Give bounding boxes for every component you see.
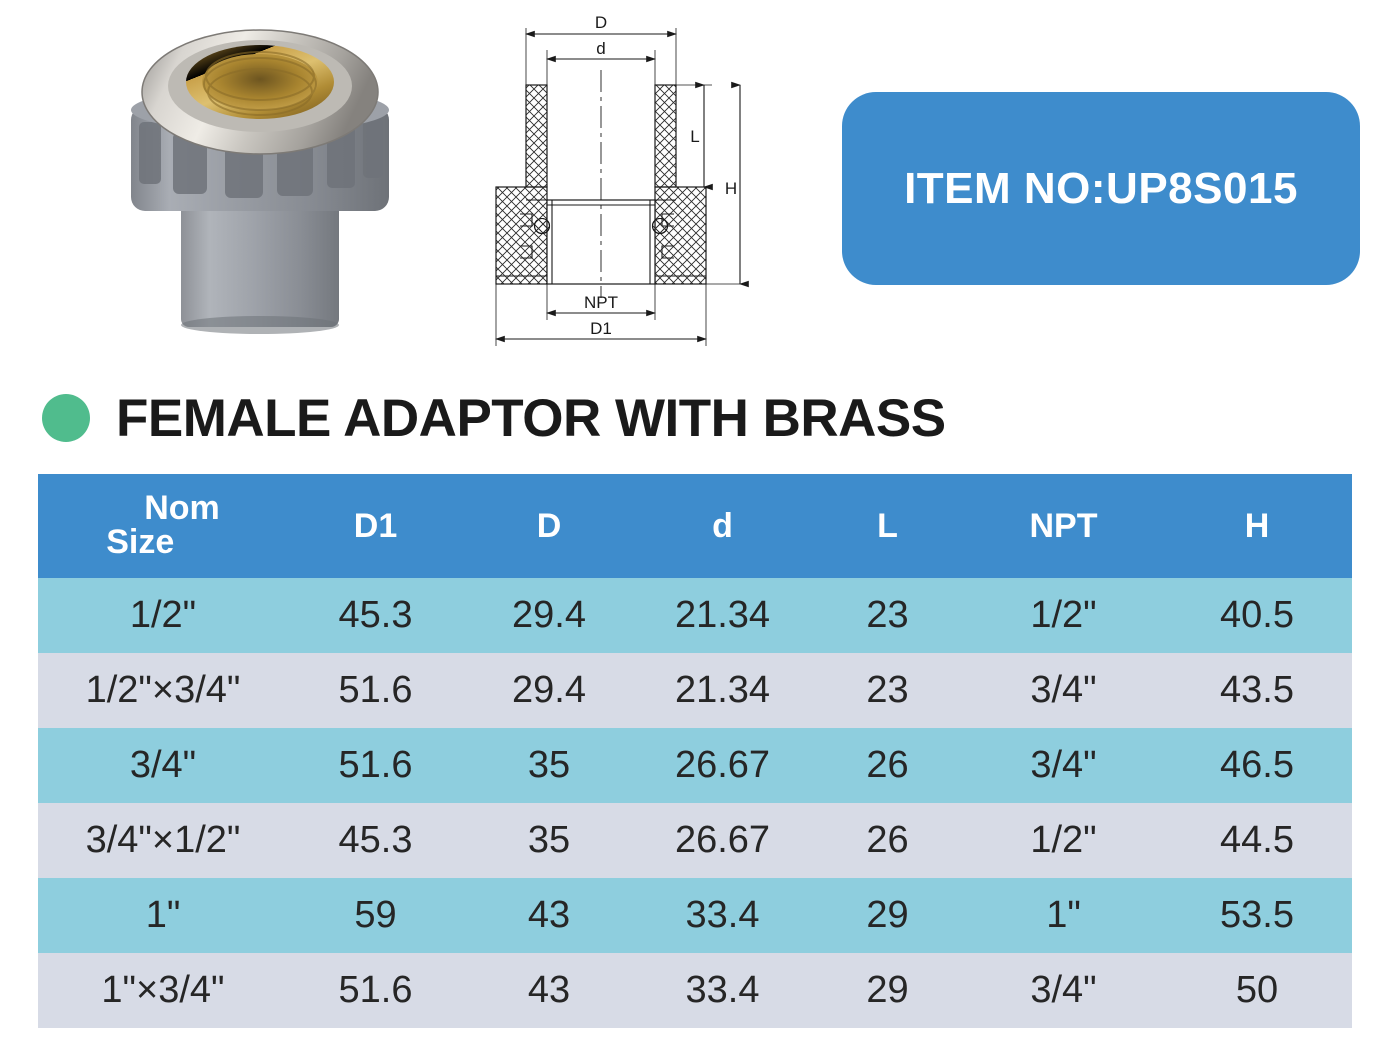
cell-d: 35: [463, 728, 635, 803]
cell-npt: 1": [965, 878, 1162, 953]
cell-h: 53.5: [1162, 878, 1352, 953]
column-header-nom-line1: Nom: [106, 491, 220, 525]
dim-label-L: L: [690, 127, 699, 146]
cell-d: 29.4: [463, 578, 635, 653]
column-header-h: H: [1162, 474, 1352, 578]
table-header: Nom Size D1 D d L NPT H: [38, 474, 1352, 578]
cell-npt: 1/2": [965, 803, 1162, 878]
cell-l: 23: [810, 653, 965, 728]
table-row: 1/2" 45.3 29.4 21.34 23 1/2" 40.5: [38, 578, 1352, 653]
cell-d: 43: [463, 953, 635, 1028]
cell-dd: 21.34: [635, 578, 810, 653]
table-body: 1/2" 45.3 29.4 21.34 23 1/2" 40.5 1/2"×3…: [38, 578, 1352, 1028]
cell-nom: 1/2"×3/4": [38, 653, 288, 728]
cell-d1: 59: [288, 878, 463, 953]
column-header-npt: NPT: [965, 474, 1162, 578]
product-photo: [95, 14, 425, 334]
dim-label-D1: D1: [590, 319, 612, 338]
table-header-row: Nom Size D1 D d L NPT H: [38, 474, 1352, 578]
cell-l: 23: [810, 578, 965, 653]
column-header-d1: D1: [288, 474, 463, 578]
column-header-l: L: [810, 474, 965, 578]
cell-l: 26: [810, 728, 965, 803]
cell-d1: 51.6: [288, 653, 463, 728]
cell-l: 26: [810, 803, 965, 878]
cell-dd: 33.4: [635, 878, 810, 953]
cell-nom: 1": [38, 878, 288, 953]
cell-d: 29.4: [463, 653, 635, 728]
dim-label-D: D: [595, 13, 607, 32]
cell-dd: 21.34: [635, 653, 810, 728]
cell-l: 29: [810, 953, 965, 1028]
cell-d1: 51.6: [288, 953, 463, 1028]
cell-nom: 3/4"×1/2": [38, 803, 288, 878]
column-header-d: D: [463, 474, 635, 578]
cell-h: 46.5: [1162, 728, 1352, 803]
technical-drawing-svg: D d L H NPT D1: [480, 8, 765, 353]
cell-d1: 45.3: [288, 803, 463, 878]
cell-nom: 1/2": [38, 578, 288, 653]
table-row: 3/4"×1/2" 45.3 35 26.67 26 1/2" 44.5: [38, 803, 1352, 878]
cell-dd: 26.67: [635, 728, 810, 803]
table-row: 3/4" 51.6 35 26.67 26 3/4" 46.5: [38, 728, 1352, 803]
cell-npt: 3/4": [965, 653, 1162, 728]
cell-l: 29: [810, 878, 965, 953]
cell-d1: 51.6: [288, 728, 463, 803]
dim-label-NPT: NPT: [584, 293, 618, 312]
cell-nom: 3/4": [38, 728, 288, 803]
product-spigot: [181, 192, 339, 327]
dim-label-d: d: [596, 39, 605, 58]
cell-h: 50: [1162, 953, 1352, 1028]
cell-npt: 3/4": [965, 728, 1162, 803]
cell-d: 35: [463, 803, 635, 878]
cell-dd: 26.67: [635, 803, 810, 878]
item-number-label: ITEM NO:UP8S015: [904, 164, 1298, 214]
cell-npt: 1/2": [965, 578, 1162, 653]
page-title: FEMALE ADAPTOR WITH BRASS: [116, 388, 946, 449]
item-number-badge: ITEM NO:UP8S015: [842, 92, 1360, 285]
dim-label-H: H: [725, 179, 737, 198]
header-section: D d L H NPT D1 ITEM NO:UP8S015: [0, 0, 1387, 370]
cell-h: 43.5: [1162, 653, 1352, 728]
cell-h: 40.5: [1162, 578, 1352, 653]
table-row: 1/2"×3/4" 51.6 29.4 21.34 23 3/4" 43.5: [38, 653, 1352, 728]
column-header-dd: d: [635, 474, 810, 578]
column-header-nom-size: Nom Size: [38, 474, 288, 578]
cell-dd: 33.4: [635, 953, 810, 1028]
table-row: 1" 59 43 33.4 29 1" 53.5: [38, 878, 1352, 953]
bullet-circle-icon: [42, 394, 90, 442]
cell-nom: 1"×3/4": [38, 953, 288, 1028]
technical-drawing: D d L H NPT D1: [480, 8, 765, 353]
table-row: 1"×3/4" 51.6 43 33.4 29 3/4" 50: [38, 953, 1352, 1028]
product-photo-svg: [95, 14, 425, 334]
cell-h: 44.5: [1162, 803, 1352, 878]
specification-table: Nom Size D1 D d L NPT H 1/2" 45.3 29.4 2…: [38, 474, 1352, 1028]
cell-d: 43: [463, 878, 635, 953]
product-title-row: FEMALE ADAPTOR WITH BRASS: [0, 378, 1387, 458]
column-header-nom-line2: Size: [106, 525, 220, 559]
cell-d1: 45.3: [288, 578, 463, 653]
cell-npt: 3/4": [965, 953, 1162, 1028]
